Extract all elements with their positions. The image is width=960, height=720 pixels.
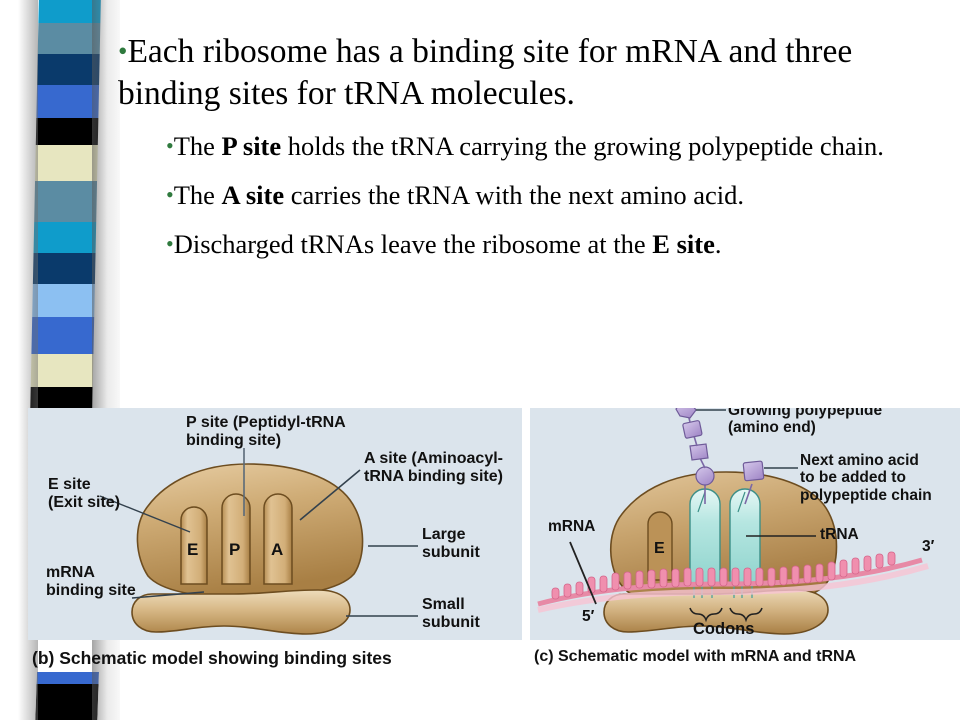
label-e-site: E site (Exit site)	[48, 476, 120, 512]
label-a-site: A site (Aminoacyl- tRNA binding site)	[364, 450, 503, 486]
label-three-prime: 3′	[922, 538, 934, 555]
label-five-prime: 5′	[582, 608, 594, 625]
a-site-term: A site	[222, 180, 285, 210]
amino-acid-triangle	[690, 444, 708, 460]
e-site-term: E site	[652, 229, 715, 259]
label-mrna: mRNA	[548, 518, 595, 535]
stripe-band-3	[36, 85, 99, 118]
decorative-color-bar	[29, 0, 101, 466]
label-small-subunit: Small subunit	[422, 596, 480, 632]
bullet-marker-icon: •	[166, 133, 174, 158]
figure-row: P site (Peptidyl-tRNA binding site) A si…	[0, 408, 960, 688]
a-site-pre: The	[174, 180, 222, 210]
bullet-level1: •Each ribosome has a binding site for mR…	[118, 0, 960, 115]
amino-acid-square-next	[743, 461, 764, 481]
bullet-level2-e-site: •Discharged tRNAs leave the ribosome at …	[118, 213, 960, 262]
amino-acid-circle	[696, 467, 714, 485]
stripe-band-10	[31, 317, 94, 354]
stripe-band-2	[37, 54, 100, 85]
slide-root: •Each ribosome has a binding site for mR…	[0, 0, 960, 720]
label-trna: tRNA	[820, 526, 859, 543]
stripe-band-9	[32, 284, 95, 317]
stripe-band-11	[31, 354, 94, 387]
stripe-band-4	[36, 118, 99, 145]
bullet-marker-icon: •	[166, 182, 174, 207]
site-letter-e: E	[654, 540, 665, 558]
label-mrna-binding-site: mRNA binding site	[46, 564, 136, 600]
e-site-pre: Discharged tRNAs leave the ribosome at t…	[174, 229, 653, 259]
stripe-band-1	[38, 23, 101, 54]
p-site-pre: The	[174, 131, 222, 161]
bullet-marker-icon: •	[166, 231, 174, 256]
label-codons: Codons	[693, 620, 754, 638]
label-next-amino-acid: Next amino acid to be added to polypepti…	[800, 452, 932, 504]
figure-panel-c: Growing polypeptide (amino end) Next ami…	[530, 408, 960, 640]
bullet-level2-p-site: •The P site holds the tRNA carrying the …	[118, 115, 960, 164]
a-site-post: carries the tRNA with the next amino aci…	[284, 180, 744, 210]
figure-panel-b: P site (Peptidyl-tRNA binding site) A si…	[28, 408, 522, 640]
label-p-site: P site (Peptidyl-tRNA binding site)	[186, 414, 346, 450]
caption-panel-b: (b) Schematic model showing binding site…	[32, 648, 392, 669]
site-letter-p: P	[229, 540, 240, 559]
stripe-band-8	[33, 253, 96, 284]
amino-acid-square	[683, 420, 703, 438]
a-site-slot	[264, 494, 292, 584]
p-site-post: holds the tRNA carrying the growing poly…	[281, 131, 884, 161]
site-letter-a: A	[271, 540, 283, 559]
stripe-band-5	[35, 145, 98, 181]
small-subunit-shape	[132, 590, 350, 634]
p-site-slot	[222, 494, 250, 584]
slide-body-text: •Each ribosome has a binding site for mR…	[118, 0, 960, 400]
bullet-level1-text: Each ribosome has a binding site for mRN…	[118, 33, 852, 112]
amino-acid-hexagon	[676, 408, 696, 418]
stripe-bottom-band-1	[35, 684, 99, 720]
stripe-band-7	[34, 222, 97, 253]
label-growing-polypeptide: Growing polypeptide (amino end)	[728, 408, 882, 437]
stripe-band-6	[34, 181, 97, 222]
label-large-subunit: Large subunit	[422, 526, 480, 562]
bullet-level2-a-site: •The A site carries the tRNA with the ne…	[118, 164, 960, 213]
e-site-post: .	[715, 229, 722, 259]
caption-panel-c: (c) Schematic model with mRNA and tRNA	[534, 648, 856, 666]
site-letter-e: E	[187, 540, 198, 559]
p-site-term: P site	[222, 131, 282, 161]
